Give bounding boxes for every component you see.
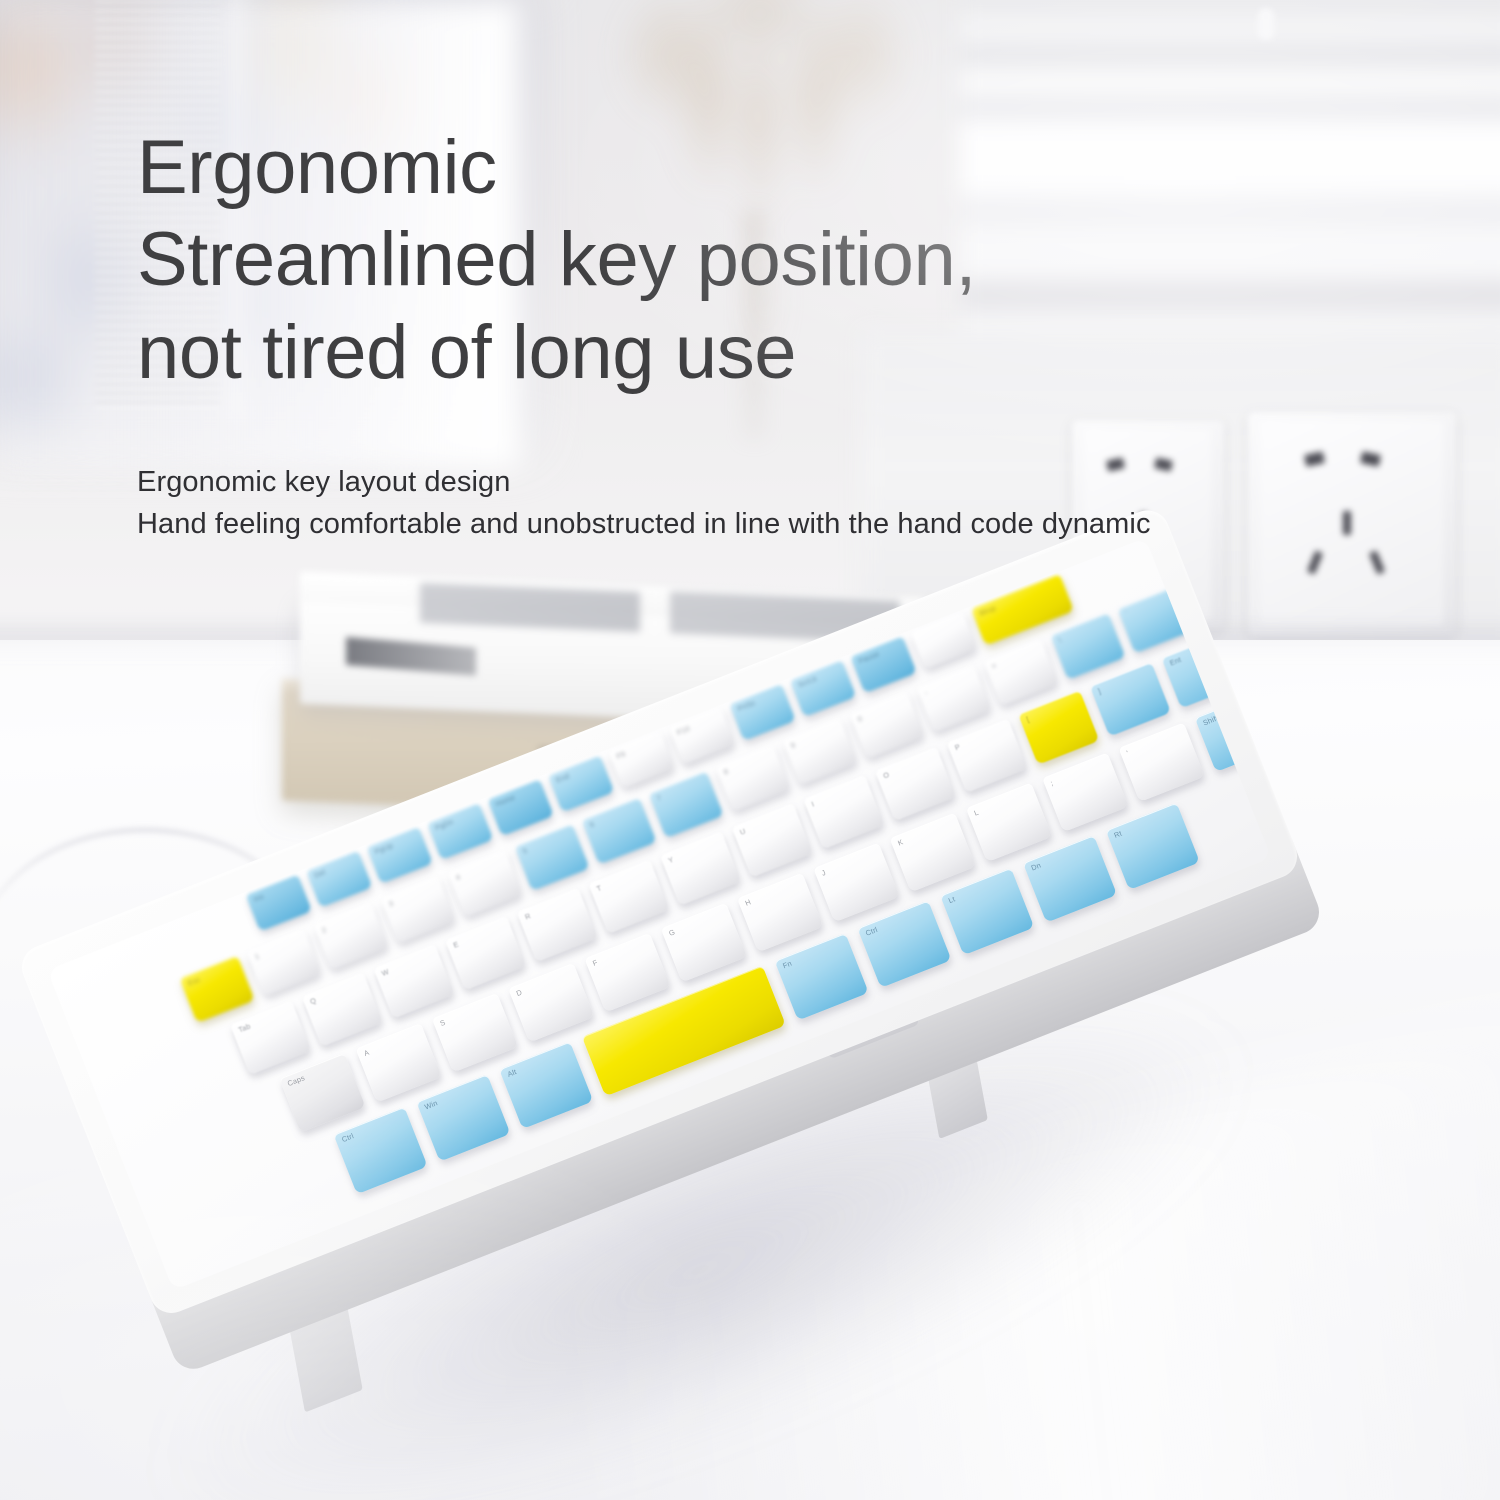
- keycap[interactable]: Ctrl: [334, 1107, 428, 1194]
- keycap[interactable]: Rt: [1106, 803, 1200, 890]
- keycap[interactable]: Alt: [499, 1042, 593, 1129]
- keycap-legend: Rt: [1113, 829, 1123, 840]
- page-title: Ergonomic Streamlined key position, not …: [137, 122, 1317, 399]
- keycap-legend: Fn: [781, 959, 792, 970]
- keycap-legend: Lt: [947, 895, 956, 905]
- page-subtitle: Ergonomic key layout design Hand feeling…: [137, 462, 1387, 546]
- keycap-legend: Win: [423, 1099, 438, 1112]
- keycap-legend: Ctrl: [864, 926, 878, 938]
- blind-cord-hook-icon: [1258, 8, 1274, 40]
- keycap-legend: Alt: [506, 1068, 518, 1079]
- keycap[interactable]: Ctrl: [857, 901, 951, 988]
- keycap-legend: Dn: [1030, 861, 1042, 872]
- keycap-legend: Ctrl: [341, 1132, 355, 1144]
- product-marketing-image: TADAO ANDO TASCHEN ARCHITECTURE BLUNCING…: [0, 0, 1500, 1500]
- keycap[interactable]: Lt: [940, 868, 1034, 955]
- keycap[interactable]: Dn: [1023, 835, 1117, 922]
- keycap[interactable]: Fn: [774, 933, 868, 1020]
- keycap[interactable]: Win: [416, 1074, 510, 1161]
- mechanical-keyboard: InsDelPgUpPgDnHomeEndF9F10PrtScScrLkPaus…: [60, 690, 1460, 1450]
- socket-pin: [1369, 550, 1385, 574]
